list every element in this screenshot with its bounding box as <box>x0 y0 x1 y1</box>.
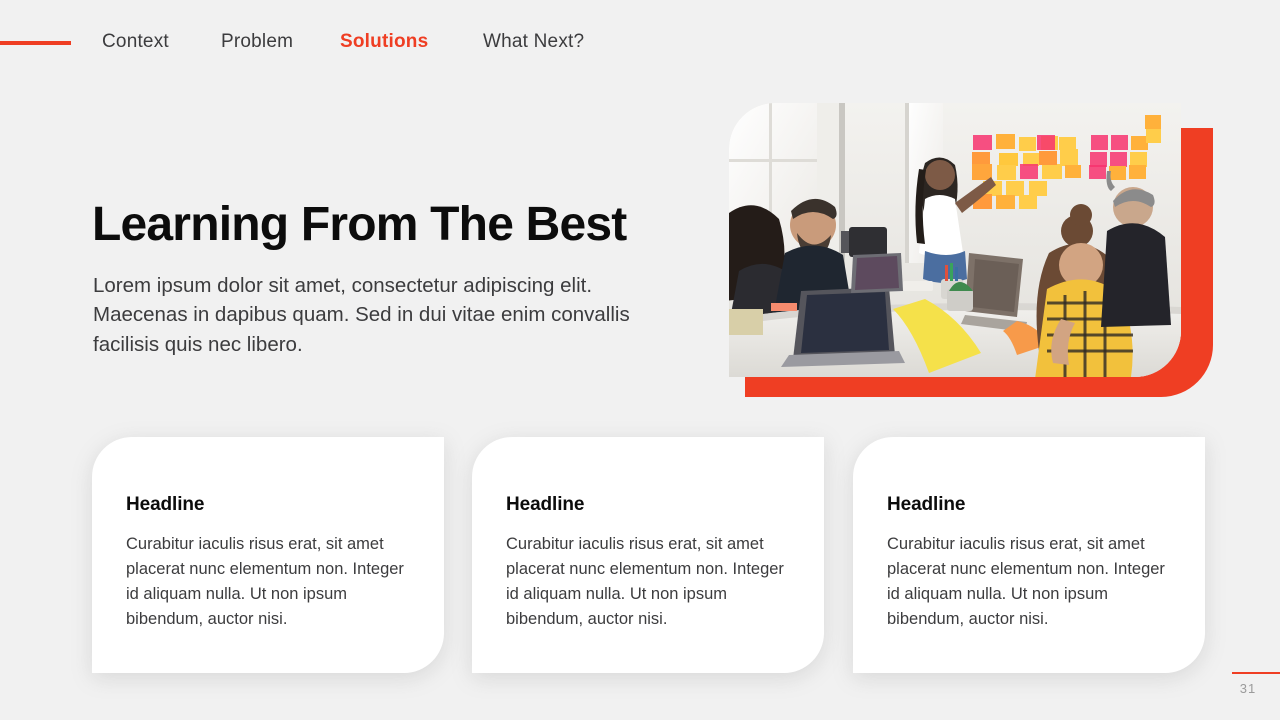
feature-card[interactable]: Headline Curabitur iaculis risus erat, s… <box>853 437 1205 673</box>
card-body: Curabitur iaculis risus erat, sit amet p… <box>126 532 416 632</box>
card-headline: Headline <box>506 494 584 516</box>
feature-card[interactable]: Headline Curabitur iaculis risus erat, s… <box>472 437 824 673</box>
card-body: Curabitur iaculis risus erat, sit amet p… <box>887 532 1177 632</box>
card-headline: Headline <box>887 494 965 516</box>
nav-accent-line-icon <box>0 41 71 45</box>
page-number-block: 31 <box>1224 664 1280 704</box>
feature-card[interactable]: Headline Curabitur iaculis risus erat, s… <box>92 437 444 673</box>
hero-media <box>745 103 1213 397</box>
card-body: Curabitur iaculis risus erat, sit amet p… <box>506 532 796 632</box>
hero-paragraph: Lorem ipsum dolor sit amet, consectetur … <box>93 271 673 360</box>
top-navigation: Context Problem Solutions What Next? <box>0 0 1280 88</box>
page-title: Learning From The Best <box>92 198 626 252</box>
card-headline: Headline <box>126 494 204 516</box>
page-number-rule-icon <box>1232 672 1280 674</box>
page-number: 31 <box>1224 681 1272 696</box>
nav-item-solutions[interactable]: Solutions <box>340 31 428 53</box>
hero-photo <box>729 103 1181 377</box>
nav-item-what-next[interactable]: What Next? <box>483 31 584 53</box>
nav-item-context[interactable]: Context <box>102 31 169 53</box>
nav-item-problem[interactable]: Problem <box>221 31 293 53</box>
hero-photo-illustration <box>729 103 1181 377</box>
